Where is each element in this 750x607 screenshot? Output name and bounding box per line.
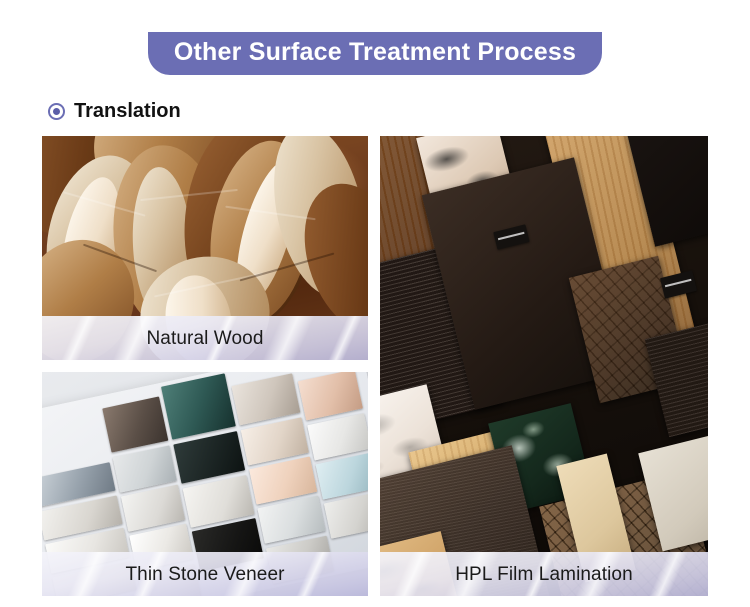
caption-bar-thin-stone-veneer: Thin Stone Veneer: [42, 552, 368, 596]
gallery-grid: Natural Wood: [42, 136, 708, 596]
gallery-card-thin-stone-veneer[interactable]: Thin Stone Veneer: [42, 372, 368, 596]
translation-section-header: Translation: [48, 101, 181, 121]
caption-text-hpl-film-lamination: HPL Film Lamination: [455, 565, 633, 584]
gallery-left-column: Natural Wood: [42, 136, 368, 596]
gallery-card-natural-wood[interactable]: Natural Wood: [42, 136, 368, 360]
caption-text-thin-stone-veneer: Thin Stone Veneer: [125, 565, 284, 584]
hpl-film-lamination-photo: [380, 136, 708, 596]
caption-text-natural-wood: Natural Wood: [146, 329, 263, 348]
caption-bar-natural-wood: Natural Wood: [42, 316, 368, 360]
page-title-banner: Other Surface Treatment Process: [148, 32, 602, 75]
header-banner-row: Other Surface Treatment Process: [0, 32, 750, 75]
gallery-right-column: HPL Film Lamination: [380, 136, 708, 596]
gallery-card-hpl-film-lamination[interactable]: HPL Film Lamination: [380, 136, 708, 596]
translation-label: Translation: [74, 101, 181, 121]
radio-selected-icon[interactable]: [48, 103, 65, 120]
caption-bar-hpl-film-lamination: HPL Film Lamination: [380, 552, 708, 596]
